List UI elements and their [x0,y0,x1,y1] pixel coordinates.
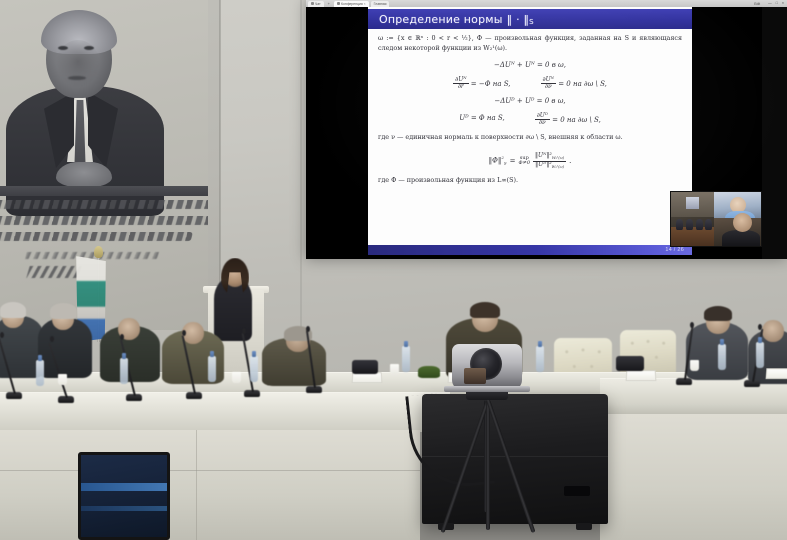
slide-title-norm-subscript: S [529,11,534,26]
water-bottle [756,342,764,368]
water-bottle [536,346,544,372]
slide-equation-4-left: Uᴰ = Φ на S, [459,113,505,127]
display-foot-right [576,523,592,530]
mural-figure-eye-left [58,46,68,50]
video-tile-person-head [733,213,752,232]
mural-handwriting-line-3 [0,232,193,241]
mural-signature [25,252,159,259]
slide-equation-2-right: ∂Uᴺ ∂ν = 0 на ∂ω \ S, [541,77,607,91]
norm-period: . [569,156,571,167]
norm-lhs: ‖Φ‖2S [489,155,507,167]
slide-title-bar: Определение нормы ‖ · ‖ S [368,9,692,29]
attendee-hair [0,302,26,318]
slide-equation-3: −ΔUᴰ + Uᴰ = 0 в ω, [378,96,682,107]
video-tile-person [705,219,712,230]
slide-paragraph-2: где ν — единичная нормаль к поверхности … [378,133,682,143]
video-tile-person [686,219,693,230]
water-bottle [402,346,410,372]
water-bottle [208,356,216,382]
browser-window: Чат + Конференция × Главная Edit — □ × [306,0,787,259]
display-port-panel [564,486,590,496]
paper-cup [232,372,241,383]
norm-denominator: ‖Uᴰ‖²W₂¹(ω) [533,162,566,170]
microphone-head [242,328,246,334]
slide-equation-4-row: Uᴰ = Φ на S, ∂Uᴰ ∂ν = 0 на ∂ω \ S, [378,113,682,127]
tab-favicon-icon [337,2,340,5]
speakerphone-pod [616,356,644,371]
slide-body: ω := {x ∈ ℝⁿ : 0 < r < ½}, Φ — произволь… [368,29,692,235]
edit-menu-button[interactable]: Edit [754,2,760,6]
projected-shared-screen: Чат + Конференция × Главная Edit — □ × [306,0,787,259]
mural-figure-eye-right [84,46,94,50]
attendee-head [762,320,784,342]
slide-footer: 14 / 26 [368,245,692,255]
camera-mount-plate [444,386,530,392]
mural-figure-mouth [68,76,86,80]
microphone-head [758,324,762,330]
slide-equation-2-left: ∂Uᴺ ∂r = −Φ на S, [453,77,510,91]
wall-seam [300,0,302,330]
water-bottle [120,358,128,384]
paper-cup [690,360,699,371]
nameplate [766,368,787,379]
water-bottle [718,344,726,370]
attendee-hair [704,306,732,321]
slide-closing-text: где Φ — произвольная функция из L∞(S). [378,176,682,186]
browser-tab-0[interactable]: Чат [308,1,324,7]
attendee-center-hair [470,302,500,318]
slide-title-norm-symbol: ‖ · ‖ [507,13,530,26]
tab-favicon-icon [311,2,314,5]
close-icon[interactable]: × [782,2,784,6]
browser-tab-label: Главная [374,1,387,7]
slide-paragraph-1: ω := {x ∈ ℝⁿ : 0 < r < ½}, Φ — произволь… [378,34,682,54]
norm-equals: = [510,156,516,167]
mural-figure-hands [56,162,112,188]
window-controls-bar: Edit — □ × [724,0,787,7]
water-bottle [36,360,44,386]
video-tile-person [696,219,703,230]
slide-equation-4-right: ∂Uᴰ ∂ν = 0 на ∂ω \ S, [535,113,601,127]
water-bottle [250,356,258,382]
microphone-head [50,336,54,342]
camera-preview-screen [464,368,486,384]
desk-panel-seam [196,430,197,540]
video-tile-person [676,219,683,230]
paper-cup [58,374,67,385]
norm-supremum: sup Φ≠0 [519,156,530,166]
speakerphone-pod [352,360,378,374]
video-tile-screen [686,197,699,209]
mural-handwriting-line-1 [0,200,208,209]
browser-tab-label: Чат [315,1,321,7]
minimize-icon[interactable]: — [768,2,772,6]
attendee-hair [50,303,77,319]
video-tile-remote-speakers[interactable] [714,192,761,246]
browser-tab-2[interactable]: Главная [371,1,390,7]
slide-equation-1: −ΔUᴺ + Uᴺ = 0 в ω, [378,60,682,71]
mural-signature-mark [26,266,81,278]
desk-panel-right [600,414,787,540]
slide-norm-definition: ‖Φ‖2S = sup Φ≠0 ‖Uᴺ‖²W₂¹(ω) [378,153,682,170]
microphone-head [120,334,124,340]
tripod-leg-center [486,400,490,530]
desk-panel-front [0,430,420,540]
slide[interactable]: Определение нормы ‖ · ‖ S ω := {x ∈ ℝⁿ :… [368,7,692,255]
desk-panel-seam [0,470,420,471]
video-thumbnails-panel[interactable] [670,191,762,247]
browser-tab-label: Конференция [341,1,363,7]
browser-tab-active[interactable]: Конференция × [334,1,369,7]
video-tile-remote-room[interactable] [671,192,714,246]
slide-page-indicator: 14 / 26 [665,247,684,253]
conference-room-screenshot: Чат + Конференция × Главная Edit — □ × [0,0,787,540]
video-tile-person-body [722,230,760,246]
new-tab-button[interactable]: + [326,1,332,6]
tab-close-icon[interactable]: × [364,1,366,7]
green-bag [418,366,440,378]
small-display-band [81,483,167,491]
nameplate [626,370,657,381]
small-display-rear [78,452,170,540]
maximize-icon[interactable]: □ [776,2,778,6]
microphone-head [182,330,186,336]
mural-figure-desk [0,186,208,196]
flag-finial [94,246,103,258]
microphone-head [0,332,4,338]
microphone-head [306,326,310,332]
mural-handwriting-line-2 [0,216,208,225]
microphone-head [690,322,694,328]
browser-tabstrip[interactable]: Чат + Конференция × Главная [306,0,724,7]
presentation-letterbox: Определение нормы ‖ · ‖ S ω := {x ∈ ℝⁿ :… [306,7,762,259]
norm-fraction: ‖Uᴺ‖²W₂¹(ω) ‖Uᴰ‖²W₂¹(ω) [533,153,566,170]
slide-equation-2-row: ∂Uᴺ ∂r = −Φ на S, ∂Uᴺ ∂ν = 0 [378,77,682,91]
paper-cup [390,364,399,375]
small-display-band-2 [81,506,167,511]
slide-title-text: Определение нормы [379,13,503,26]
